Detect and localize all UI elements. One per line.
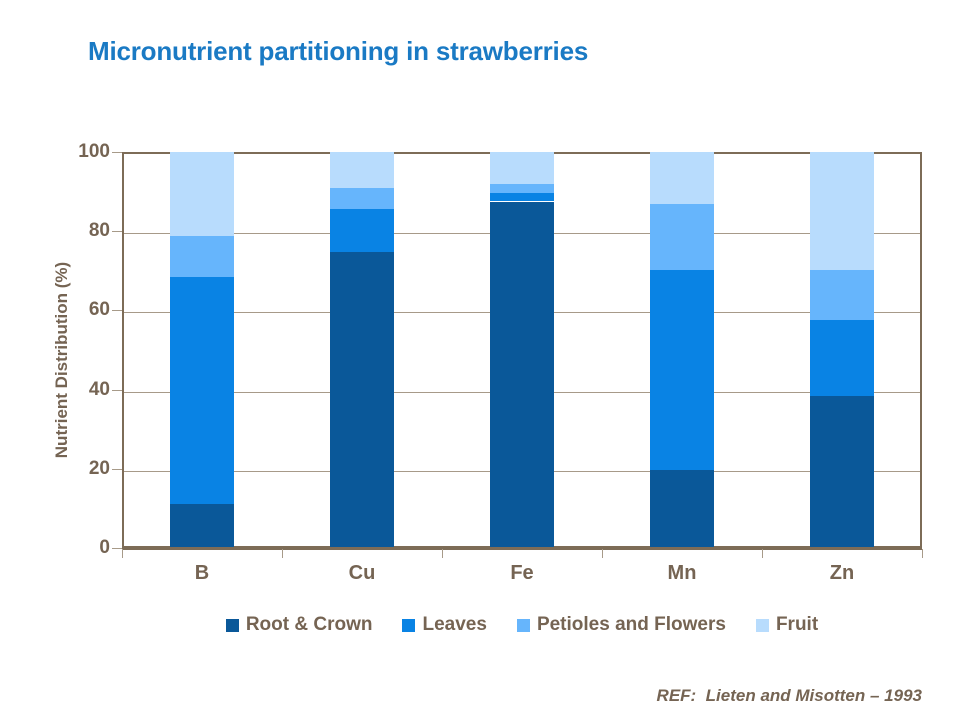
x-axis-line bbox=[122, 547, 922, 550]
reference-note: REF: Lieten and Misotten – 1993 bbox=[657, 686, 922, 706]
legend-label: Petioles and Flowers bbox=[537, 614, 726, 636]
y-tick-mark bbox=[112, 390, 122, 391]
y-tick-mark bbox=[112, 231, 122, 232]
y-tick-label: 100 bbox=[54, 141, 110, 163]
y-tick-mark bbox=[112, 548, 122, 549]
x-tick-mark bbox=[282, 549, 283, 558]
y-tick-mark bbox=[112, 310, 122, 311]
y-axis-tick-labels: 020406080100 bbox=[46, 152, 110, 548]
gridline bbox=[124, 471, 920, 472]
legend-label: Leaves bbox=[422, 614, 486, 636]
legend-item-2[interactable]: Petioles and Flowers bbox=[517, 614, 726, 636]
y-tick-label: 40 bbox=[54, 379, 110, 401]
legend-label: Root & Crown bbox=[246, 614, 373, 636]
legend-item-1[interactable]: Leaves bbox=[402, 614, 486, 636]
chart-title: Micronutrient partitioning in strawberri… bbox=[88, 36, 588, 67]
x-tick-label-b: B bbox=[195, 562, 209, 585]
x-tick-label-cu: Cu bbox=[349, 562, 376, 585]
y-tick-label: 0 bbox=[54, 537, 110, 559]
x-tick-mark bbox=[122, 549, 123, 558]
x-tick-label-zn: Zn bbox=[830, 562, 854, 585]
y-tick-label: 60 bbox=[54, 299, 110, 321]
chart-legend: Root & CrownLeavesPetioles and FlowersFr… bbox=[122, 614, 922, 636]
legend-swatch-icon bbox=[756, 619, 769, 632]
chart-container: Micronutrient partitioning in strawberri… bbox=[0, 0, 960, 720]
gridline bbox=[124, 392, 920, 393]
x-tick-mark bbox=[922, 549, 923, 558]
plot-area bbox=[122, 152, 922, 548]
gridline bbox=[124, 233, 920, 234]
x-tick-label-fe: Fe bbox=[510, 562, 533, 585]
x-tick-mark bbox=[762, 549, 763, 558]
x-tick-mark bbox=[442, 549, 443, 558]
x-tick-label-mn: Mn bbox=[668, 562, 697, 585]
gridline bbox=[124, 312, 920, 313]
legend-item-3[interactable]: Fruit bbox=[756, 614, 818, 636]
y-tick-label: 80 bbox=[54, 220, 110, 242]
legend-swatch-icon bbox=[402, 619, 415, 632]
legend-swatch-icon bbox=[517, 619, 530, 632]
y-tick-mark bbox=[112, 152, 122, 153]
legend-label: Fruit bbox=[776, 614, 818, 636]
legend-item-0[interactable]: Root & Crown bbox=[226, 614, 373, 636]
x-tick-mark bbox=[602, 549, 603, 558]
y-tick-label: 20 bbox=[54, 458, 110, 480]
legend-swatch-icon bbox=[226, 619, 239, 632]
y-tick-mark bbox=[112, 469, 122, 470]
